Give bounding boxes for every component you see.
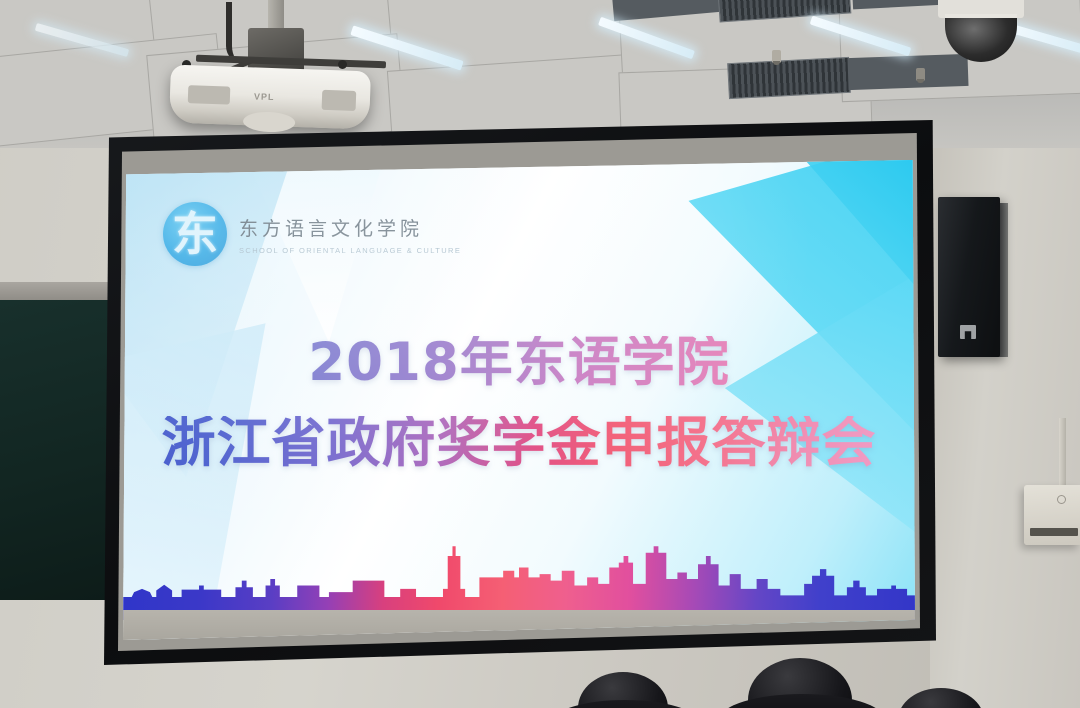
slide-title-line-1: 2018年东语学院 bbox=[123, 336, 915, 389]
school-name-english: SCHOOL OF ORIENTAL LANGUAGE & CULTURE bbox=[239, 246, 461, 255]
projector-brand-label: VPL bbox=[254, 91, 275, 102]
logo-glyph: 东 bbox=[163, 202, 227, 266]
projector-vent bbox=[188, 85, 231, 104]
presentation-slide: 东 东方语言文化学院 SCHOOL OF ORIENTAL LANGUAGE &… bbox=[123, 160, 915, 640]
projector-vent bbox=[322, 90, 357, 111]
wall-conduit bbox=[1059, 418, 1066, 488]
control-panel-slot bbox=[1030, 528, 1078, 536]
ceiling-projector: VPL bbox=[169, 65, 371, 130]
sprinkler-head bbox=[916, 68, 925, 81]
blackboard bbox=[0, 300, 116, 600]
classroom-scene: VPL 东 东方语言文化学院 SCHOOL OF ORIENTAL L bbox=[0, 0, 1080, 708]
speaker-logo-icon bbox=[960, 325, 976, 339]
projector-cable bbox=[226, 2, 268, 64]
chalk-rail bbox=[0, 282, 114, 302]
wall-speaker bbox=[938, 197, 1000, 357]
logo-mark-icon: 东 bbox=[163, 202, 227, 266]
city-skyline-silhouette bbox=[123, 538, 915, 620]
wall-control-panel[interactable] bbox=[1024, 485, 1080, 545]
school-logo: 东 东方语言文化学院 SCHOOL OF ORIENTAL LANGUAGE &… bbox=[163, 202, 461, 266]
projector-knob bbox=[338, 60, 347, 69]
slide-title-line-2: 浙江省政府奖学金申报答辩会 bbox=[123, 416, 915, 470]
school-name-chinese: 东方语言文化学院 bbox=[239, 214, 461, 241]
control-panel-indicator bbox=[1057, 495, 1066, 504]
sprinkler-head bbox=[772, 50, 781, 63]
ceiling-vent bbox=[727, 57, 851, 99]
side-wall bbox=[930, 80, 1080, 708]
